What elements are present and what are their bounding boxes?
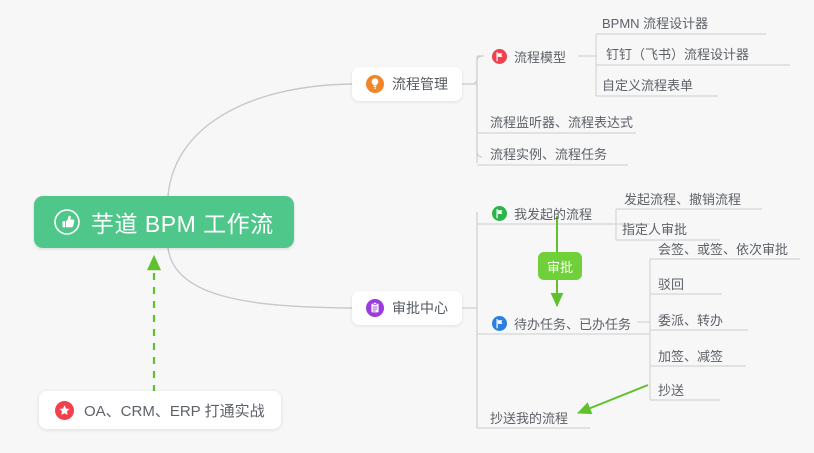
node-label-todo-done-tasks: 待办任务、已办任务 — [514, 314, 631, 333]
star-icon — [55, 401, 74, 420]
bracket-process-management — [462, 56, 484, 157]
flag-icon — [492, 206, 507, 221]
leaf-dingtalk-designer[interactable]: 钉钉（飞书）流程设计器 — [606, 41, 749, 65]
leaf-bpmn-designer[interactable]: BPMN 流程设计器 — [602, 10, 708, 34]
leaf-countersign[interactable]: 会签、或签、依次审批 — [658, 236, 788, 260]
leaf-custom-form[interactable]: 自定义流程表单 — [602, 72, 693, 96]
leaf-reject[interactable]: 驳回 — [658, 271, 684, 295]
leaf-label-delegate-transfer: 委派、转办 — [658, 310, 723, 329]
node-my-initiated[interactable]: 我发起的流程 — [492, 200, 592, 226]
mindmap-canvas: 芋道 BPM 工作流 流程管理 流程模型 BPMN 流程设计器 钉 — [0, 0, 814, 453]
leaf-start-cancel-process[interactable]: 发起流程、撤销流程 — [624, 186, 741, 210]
branch-node-process-management[interactable]: 流程管理 — [352, 67, 462, 101]
badge-approval-label: 审批 — [547, 257, 573, 276]
leaf-label-start-cancel-process: 发起流程、撤销流程 — [624, 189, 741, 208]
branch-node-approval-center[interactable]: 审批中心 — [352, 291, 462, 325]
leaf-label-cc: 抄送 — [658, 380, 684, 399]
lightbulb-icon — [366, 75, 384, 93]
arrow-cc-to-my-cc-process — [578, 385, 648, 413]
leaf-label-add-remove-sign: 加签、减签 — [658, 346, 723, 365]
leaf-label-cc-to-me: 抄送我的流程 — [490, 408, 568, 427]
node-label-process-model: 流程模型 — [514, 47, 566, 66]
thumbs-up-icon — [54, 209, 80, 235]
root-label: 芋道 BPM 工作流 — [91, 205, 274, 239]
leaf-label-designated-approval: 指定人审批 — [622, 219, 687, 238]
flag-icon — [492, 49, 507, 64]
node-label-my-initiated: 我发起的流程 — [514, 204, 592, 223]
branch-label-approval-center: 审批中心 — [392, 298, 448, 318]
connector-root-to-process-management — [168, 84, 352, 196]
flag-icon — [492, 316, 507, 331]
root-node[interactable]: 芋道 BPM 工作流 — [34, 196, 294, 248]
leaf-cc-to-me[interactable]: 抄送我的流程 — [490, 405, 568, 429]
annotation-label: OA、CRM、ERP 打通实战 — [84, 400, 265, 421]
leaf-label-custom-form: 自定义流程表单 — [602, 75, 693, 94]
leaf-cc[interactable]: 抄送 — [658, 377, 684, 401]
leaf-add-remove-sign[interactable]: 加签、减签 — [658, 343, 723, 367]
badge-approval: 审批 — [538, 252, 582, 280]
annotation-node[interactable]: OA、CRM、ERP 打通实战 — [39, 391, 281, 429]
leaf-process-listener[interactable]: 流程监听器、流程表达式 — [490, 109, 633, 133]
leaf-label-reject: 驳回 — [658, 274, 684, 293]
leaf-label-process-instance: 流程实例、流程任务 — [490, 144, 607, 163]
leaf-process-instance[interactable]: 流程实例、流程任务 — [490, 141, 607, 165]
leaf-label-countersign: 会签、或签、依次审批 — [658, 239, 788, 258]
clipboard-icon — [366, 299, 384, 317]
node-process-model[interactable]: 流程模型 — [492, 43, 566, 69]
node-todo-done-tasks[interactable]: 待办任务、已办任务 — [492, 310, 631, 336]
connector-root-to-approval-center — [168, 248, 352, 308]
branch-label-process-management: 流程管理 — [392, 74, 448, 94]
leaf-delegate-transfer[interactable]: 委派、转办 — [658, 307, 723, 331]
leaf-label-bpmn-designer: BPMN 流程设计器 — [602, 13, 708, 32]
leaf-label-dingtalk-designer: 钉钉（飞书）流程设计器 — [606, 44, 749, 63]
leaf-label-process-listener: 流程监听器、流程表达式 — [490, 112, 633, 131]
